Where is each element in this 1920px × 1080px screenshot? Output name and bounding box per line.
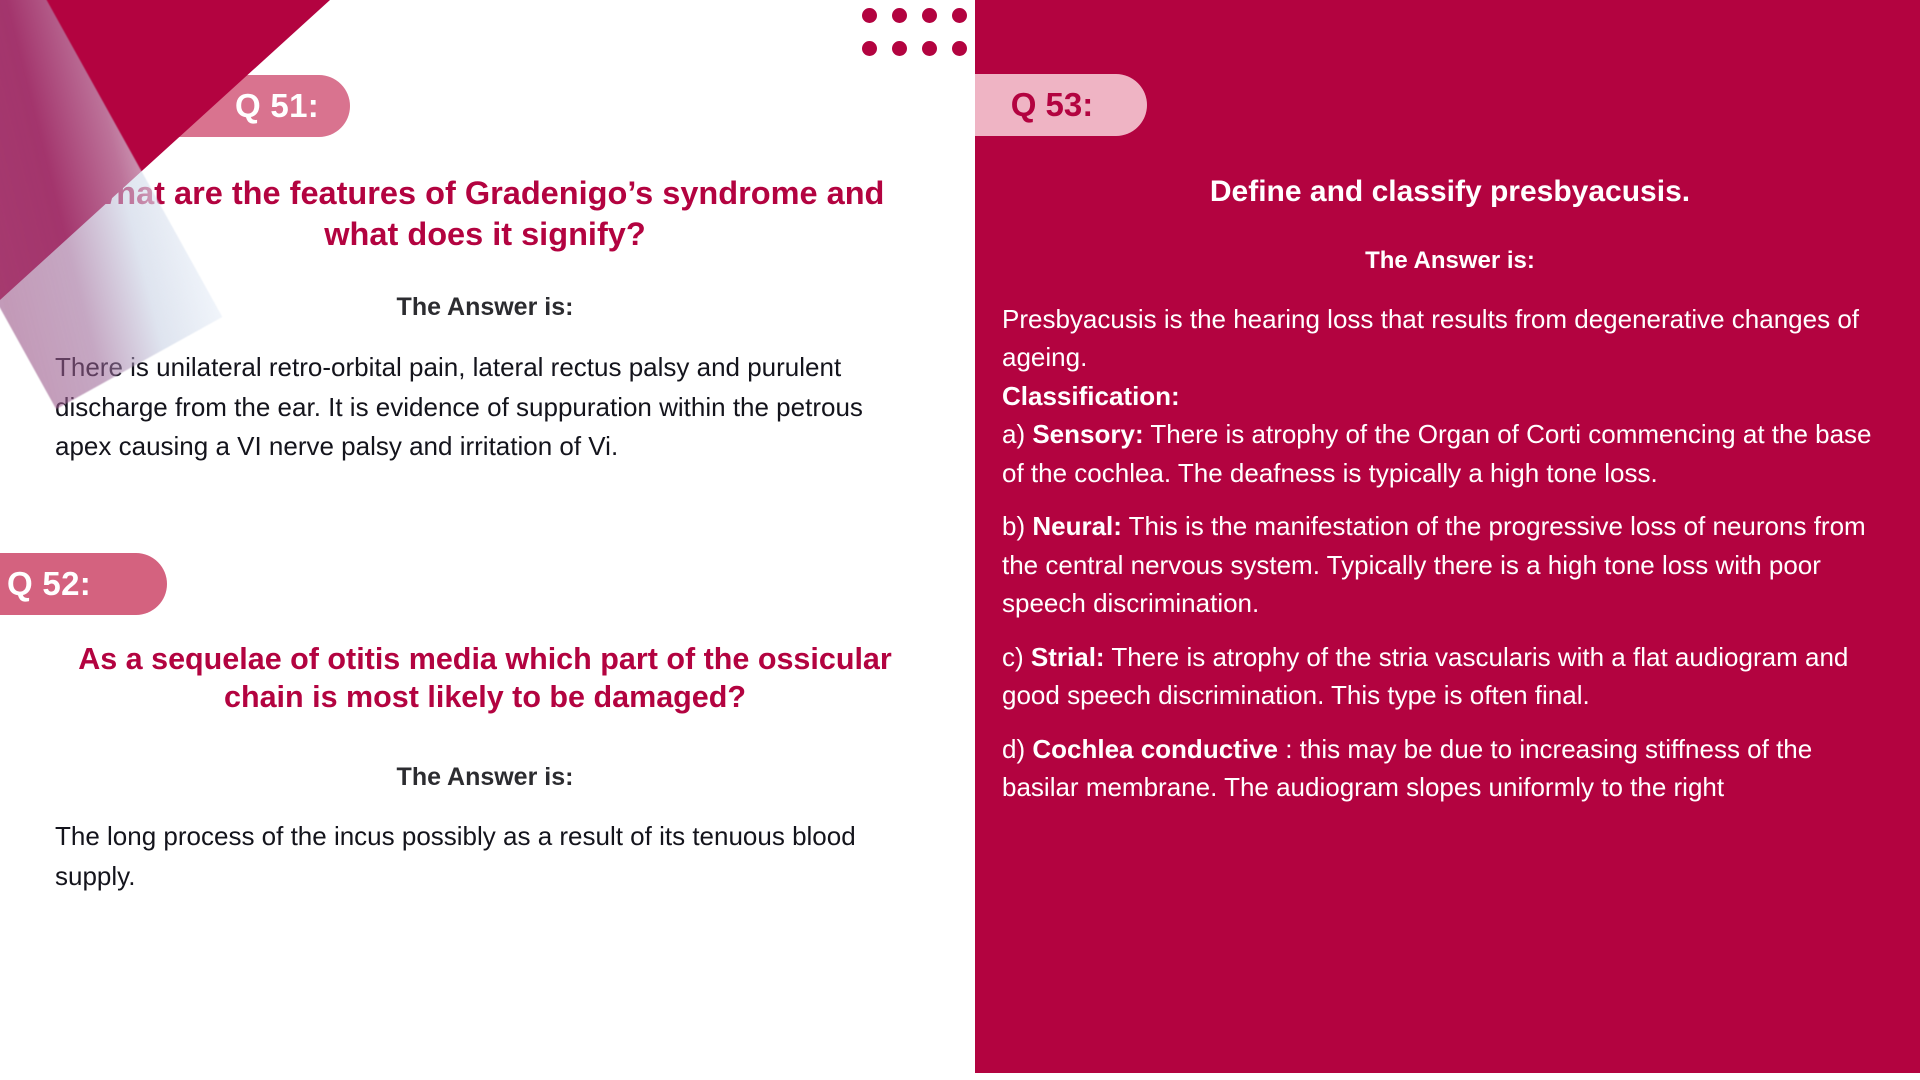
answer-label-q53: The Answer is:: [1035, 247, 1865, 275]
list-marker: a): [1002, 419, 1032, 449]
question-badge-q53: Q 53:: [975, 74, 1147, 136]
paragraph-lead: Classification:: [1002, 381, 1180, 411]
paragraph-lead: Neural:: [1032, 511, 1122, 541]
answer-paragraph: Classification:: [1002, 377, 1892, 415]
question-badge-q51: Q 51:: [0, 75, 350, 137]
answer-paragraph: d) Cochlea conductive : this may be due …: [1002, 730, 1892, 807]
answer-paragraph: a) Sensory: There is atrophy of the Orga…: [1002, 415, 1892, 492]
paragraph-text: There is atrophy of the stria vascularis…: [1002, 642, 1848, 710]
paragraph-lead: Cochlea conductive: [1032, 734, 1278, 764]
paragraph-lead: Sensory:: [1032, 419, 1143, 449]
question-badge-q52-label: Q 52:: [7, 565, 91, 603]
question-badge-q51-label: Q 51:: [235, 87, 319, 125]
question-heading-q52: As a sequelae of otitis media which part…: [55, 640, 915, 717]
question-heading-q53: Define and classify presbyacusis.: [1035, 175, 1865, 209]
answer-label-q52: The Answer is:: [55, 763, 915, 792]
answer-body-q52: The long process of the incus possibly a…: [55, 817, 905, 896]
answer-paragraph: c) Strial: There is atrophy of the stria…: [1002, 638, 1892, 715]
list-marker: c): [1002, 642, 1031, 672]
answer-body-q53: Presbyacusis is the hearing loss that re…: [1002, 300, 1892, 822]
list-marker: d): [1002, 734, 1032, 764]
question-badge-q53-label: Q 53:: [1011, 86, 1094, 124]
left-question-column: Q 51: What are the features of Gradenigo…: [0, 0, 975, 1080]
answer-paragraph: b) Neural: This is the manifestation of …: [1002, 507, 1892, 622]
paragraph-text: Presbyacusis is the hearing loss that re…: [1002, 304, 1859, 372]
right-answer-panel: Q 53: Define and classify presbyacusis. …: [975, 0, 1920, 1073]
answer-paragraph: Presbyacusis is the hearing loss that re…: [1002, 300, 1892, 377]
question-heading-q51: What are the features of Gradenigo’s syn…: [55, 173, 915, 255]
answer-body-q51: There is unilateral retro-orbital pain, …: [55, 348, 905, 467]
paragraph-text: This is the manifestation of the progres…: [1002, 511, 1866, 618]
paragraph-lead: Strial:: [1031, 642, 1105, 672]
question-badge-q52: Q 52:: [0, 553, 167, 615]
answer-label-q51: The Answer is:: [55, 293, 915, 322]
list-marker: b): [1002, 511, 1032, 541]
